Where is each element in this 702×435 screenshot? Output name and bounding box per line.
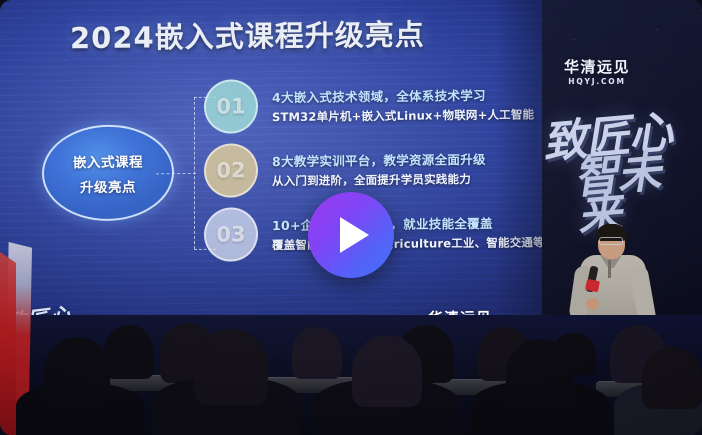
microphone-flag [585, 279, 600, 292]
brand-logo-cn: 华清远见 [564, 60, 630, 75]
play-button[interactable] [308, 192, 394, 278]
audience-head [44, 337, 110, 407]
glasses-icon [599, 237, 623, 245]
speaker-placket [608, 260, 611, 278]
hub-line-2: 升级亮点 [80, 175, 136, 196]
item-number-badge: 01 [204, 79, 258, 134]
presentation-screen: 2024嵌入式课程升级亮点 嵌入式课程 升级亮点 01 4大嵌入式技术领域，全体… [0, 0, 564, 348]
item-number-badge: 02 [204, 143, 258, 198]
stage-big-slogan: 致匠心 智未来 [541, 111, 702, 238]
brand-logo: 华清远见 HQYJ.COM [564, 60, 630, 86]
item-number-badge: 03 [204, 207, 258, 262]
item-subline: 从入门到进阶，全面提升学员实践能力 [272, 171, 486, 189]
audience-head [642, 347, 702, 409]
brand-logo-en: HQYJ.COM [564, 78, 630, 86]
video-thumbnail[interactable]: 2024嵌入式课程升级亮点 嵌入式课程 升级亮点 01 4大嵌入式技术领域，全体… [0, 0, 702, 435]
audience-head [352, 335, 422, 407]
item-headline: 8大教学实训平台，教学资源全面升级 [272, 149, 486, 170]
hub-line-1: 嵌入式课程 [73, 150, 143, 171]
slide-title: 2024嵌入式课程升级亮点 [70, 12, 425, 58]
play-triangle-icon [340, 217, 369, 253]
slide-item-01: 01 4大嵌入式技术领域，全体系技术学习 STM32单片机+嵌入式Linux+物… [204, 76, 534, 133]
audience-head [292, 327, 342, 379]
audience-head [104, 325, 154, 379]
audience-head [194, 329, 268, 405]
connector-branch-middle [156, 173, 196, 174]
audience [0, 300, 702, 435]
audience-head [506, 339, 574, 409]
slide-item-02: 02 8大教学实训平台，教学资源全面升级 从入门到进阶，全面提升学员实践能力 [204, 141, 486, 198]
